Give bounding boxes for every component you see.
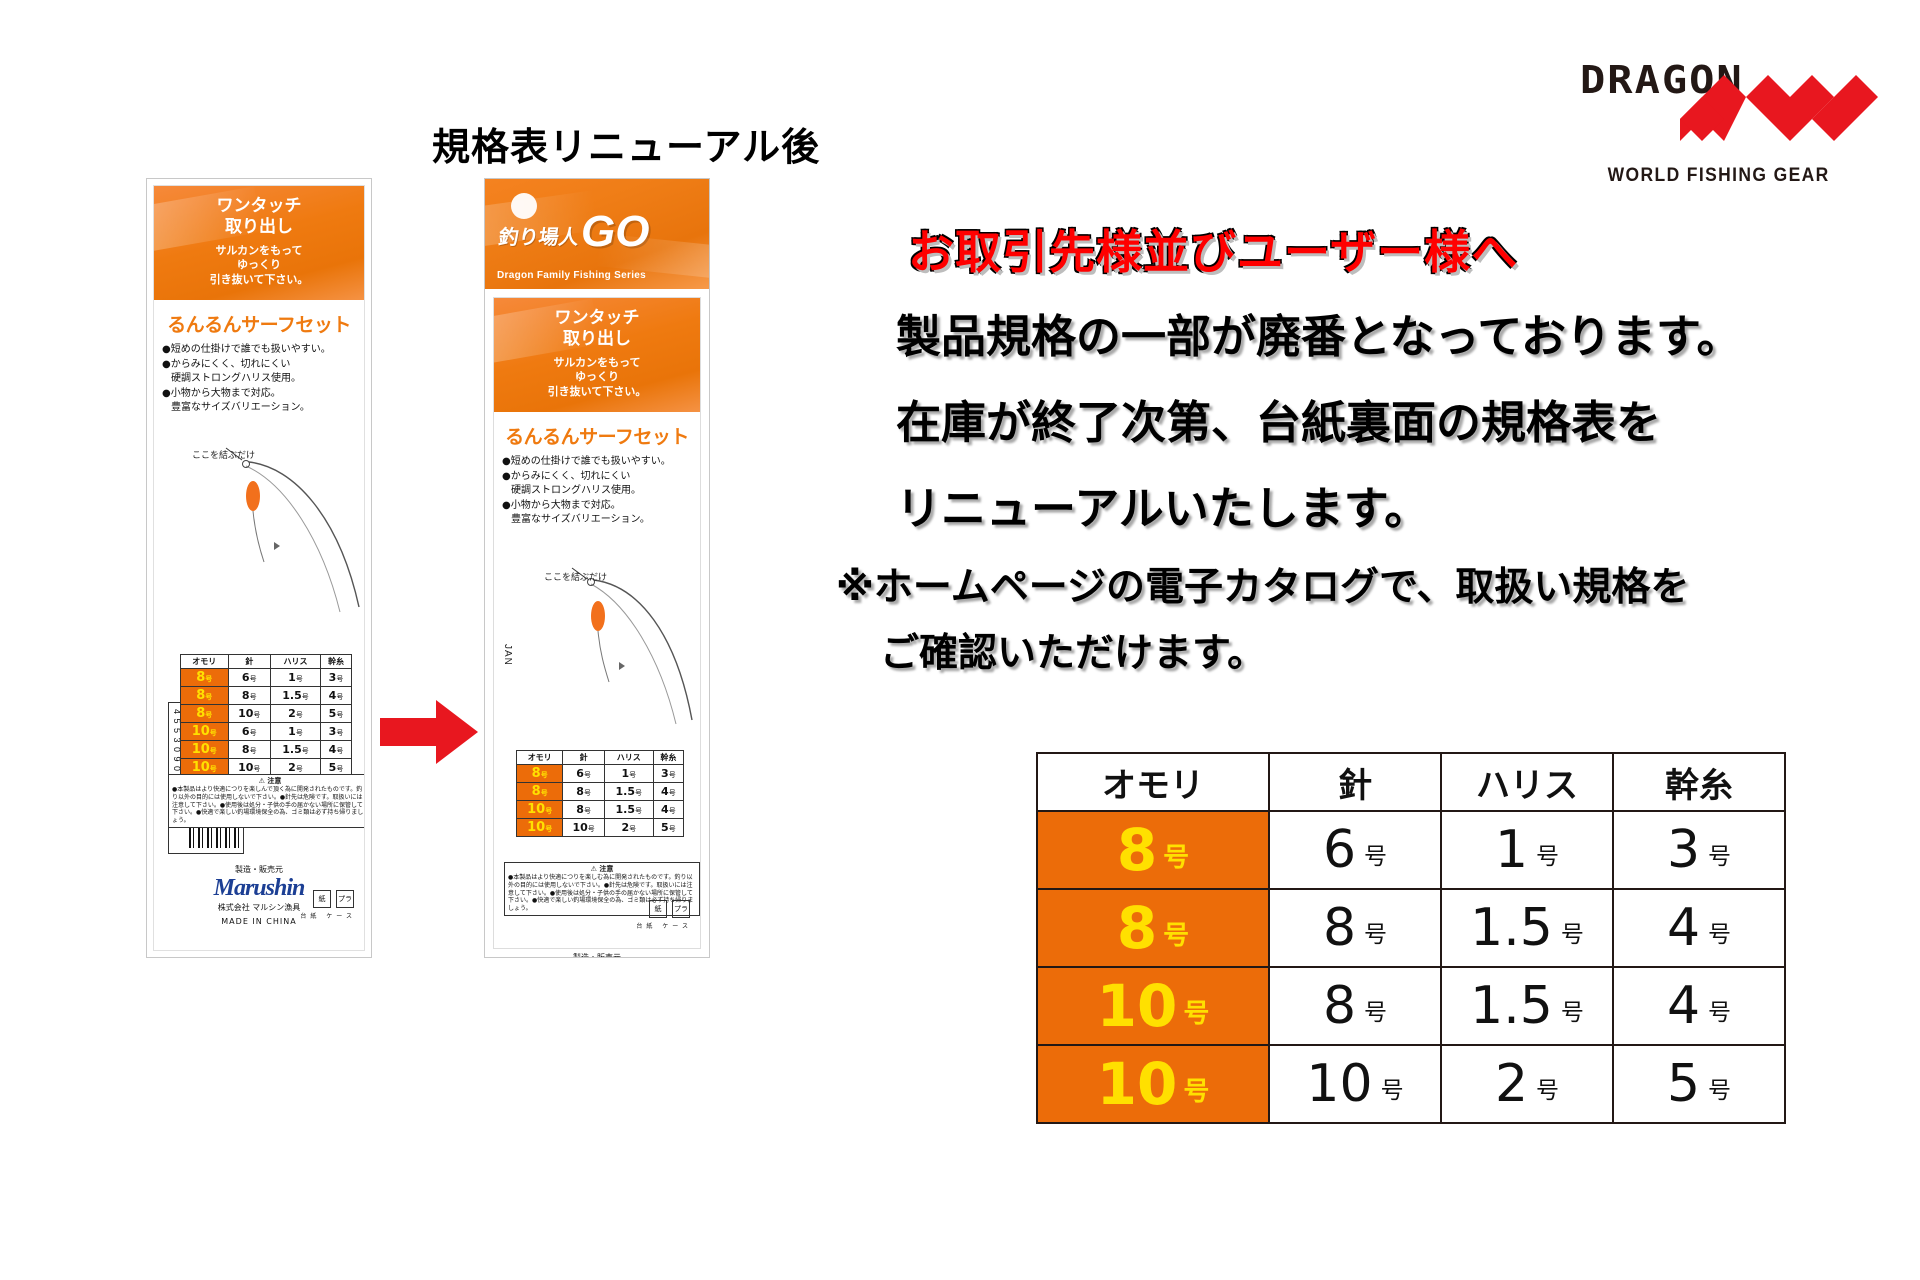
th-harisu-new: ハリス — [604, 751, 653, 765]
maker-block-new: 製造・販売元 Marushin 株式会社 マルシン漁具 MADE IN CHIN… — [494, 952, 700, 957]
spec-unit: 号 — [1364, 922, 1387, 948]
warning-title-old: ⚠ 注意 — [172, 777, 365, 786]
cell-value: 1.5号 — [604, 783, 653, 801]
spec-cell-omori: 10号 — [1037, 1045, 1269, 1123]
cell-omori: 10号 — [517, 819, 563, 837]
spec-cell-hari: 10号 — [1269, 1045, 1441, 1123]
spec-unit: 号 — [1183, 999, 1209, 1029]
package-new-body: ワンタッチ 取り出し サルカンをもって ゆっくり 引き抜いて下さい。 るんるんサ… — [493, 297, 701, 949]
cell-value: 8号 — [563, 801, 604, 819]
spec-value: 1.5 — [1470, 976, 1553, 1036]
cell-omori: 8号 — [517, 783, 563, 801]
spec-cell-mikiito: 3号 — [1613, 811, 1785, 889]
bullet-2: 硬調ストロングハリス使用。 — [162, 372, 356, 387]
feature-bullets-new: ●短めの仕掛けで誰でも扱いやすい。 ●からみにくく、切れにくい 硬調ストロングハ… — [494, 455, 700, 528]
spec-value: 8 — [1117, 894, 1157, 962]
cell-value: 1.5号 — [604, 801, 653, 819]
one-touch-sub2-new: ゆっくり — [575, 370, 619, 383]
spec-cell-harisu: 1.5号 — [1441, 889, 1613, 967]
spec-cell-omori: 10号 — [1037, 967, 1269, 1045]
cell-value: 8号 — [228, 741, 270, 759]
brand-jp-new: 釣り場人 — [497, 221, 581, 250]
cell-value: 2号 — [270, 705, 320, 723]
package-image-new: 釣り場人 GO Dragon Family Fishing Series ワンタ… — [484, 178, 710, 958]
maker-lead-old: 製造・販売元 — [154, 864, 364, 875]
brand-hero-new: 釣り場人 GO Dragon Family Fishing Series — [485, 179, 709, 289]
cell-value: 10号 — [228, 705, 270, 723]
one-touch-sub3-new: 引き抜いて下さい。 — [548, 385, 647, 398]
spec-th-omori: オモリ — [1037, 753, 1269, 811]
th-mikiito-new: 幹糸 — [653, 751, 683, 765]
th-harisu: ハリス — [270, 655, 320, 669]
dragon-tagline: WORLD FISHING GEAR — [1608, 165, 1830, 187]
spec-unit: 号 — [1381, 1078, 1404, 1104]
one-touch-banner-old: ワンタッチ 取り出し サルカンをもって ゆっくり 引き抜いて下さい。 — [154, 186, 364, 300]
page-title: 規格表リニューアル後 — [432, 116, 820, 171]
brand-sub-new: Dragon Family Fishing Series — [497, 270, 646, 281]
table-row: 8号8号1.5号4号 — [517, 783, 684, 801]
notice-line-5: ご確認いただけます。 — [880, 622, 1266, 678]
one-touch-sub2: ゆっくり — [237, 258, 281, 271]
cell-value: 1.5号 — [270, 741, 320, 759]
spec-cell-mikiito: 4号 — [1613, 889, 1785, 967]
bubble-icon — [511, 193, 537, 219]
cell-value: 4号 — [321, 741, 352, 759]
cell-value: 3号 — [321, 723, 352, 741]
cell-value: 6号 — [228, 723, 270, 741]
cell-value: 5号 — [321, 705, 352, 723]
spec-cell-harisu: 2号 — [1441, 1045, 1613, 1123]
spec-value: 6 — [1323, 820, 1356, 880]
table-row: 8号6号1号3号 — [517, 765, 684, 783]
cell-value: 4号 — [653, 801, 683, 819]
spec-table-new: オモリ 針 ハリス 幹糸 8号6号1号3号8号8号1.5号4号10号8号1.5号… — [516, 750, 684, 837]
spec-value: 4 — [1667, 898, 1700, 958]
cell-omori: 10号 — [181, 723, 229, 741]
right-arrow-icon — [380, 700, 478, 764]
th-omori: オモリ — [181, 655, 229, 669]
table-row: 10号8号1.5号4号 — [517, 801, 684, 819]
th-hari: 針 — [228, 655, 270, 669]
spec-th-hari: 針 — [1269, 753, 1441, 811]
notice-line-3: リニューアルいたします。 — [896, 472, 1429, 537]
cell-value: 1.5号 — [270, 687, 320, 705]
spec-unit: 号 — [1163, 843, 1189, 873]
notice-headline: お取引先様並びユーザー様へ — [908, 216, 1518, 282]
one-touch-title2: 取り出し — [225, 217, 293, 237]
spec-unit: 号 — [1708, 1078, 1731, 1104]
bullet-1: ●からみにくく、切れにくい — [162, 358, 356, 373]
cell-value: 1号 — [270, 723, 320, 741]
spec-cell-omori: 8号 — [1037, 889, 1269, 967]
th-mikiito: 幹糸 — [321, 655, 352, 669]
one-touch-title2-new: 取り出し — [563, 329, 631, 349]
bullet-1-new: ●からみにくく、切れにくい — [502, 470, 692, 485]
spec-table-main: オモリ 針 ハリス 幹糸 8号6号1号3号8号8号1.5号4号10号8号1.5号… — [1036, 752, 1786, 1124]
recycle-marks-new: 紙 プラ — [649, 900, 690, 918]
spec-unit: 号 — [1364, 1000, 1387, 1026]
one-touch-sub1: サルカンをもって — [215, 244, 302, 257]
table-header-row-new: オモリ 針 ハリス 幹糸 — [517, 751, 684, 765]
one-touch-sub1-new: サルカンをもって — [553, 356, 640, 369]
th-hari-new: 針 — [563, 751, 604, 765]
spec-value: 3 — [1667, 820, 1700, 880]
spec-value: 1.5 — [1470, 898, 1553, 958]
product-name-old: るんるんサーフセット — [154, 310, 364, 337]
spec-value: 10 — [1097, 1050, 1178, 1118]
spec-value: 5 — [1667, 1054, 1700, 1114]
spec-table-header-row: オモリ 針 ハリス 幹糸 — [1037, 753, 1785, 811]
spec-cell-hari: 8号 — [1269, 967, 1441, 1045]
cell-value: 2号 — [604, 819, 653, 837]
rod-note-old: ここを結ぶだけ — [192, 448, 255, 461]
bullet-2-new: 硬調ストロングハリス使用。 — [502, 484, 692, 499]
table-header-row: オモリ 針 ハリス 幹糸 — [181, 655, 352, 669]
cell-omori: 8号 — [181, 705, 229, 723]
cell-value: 10号 — [563, 819, 604, 837]
recycle-paper-icon-new: 紙 — [649, 900, 667, 918]
table-row: 8号6号1号3号 — [181, 669, 352, 687]
rod-illustration-old: ここを結ぶだけ 4 5 5 3 0 9 0 1 2 4 5 2 8 — [154, 422, 364, 622]
spec-cell-harisu: 1.5号 — [1441, 967, 1613, 1045]
cell-value: 6号 — [563, 765, 604, 783]
recycle-labels-new: 台紙 ケース — [636, 921, 692, 930]
spec-value: 8 — [1323, 898, 1356, 958]
spec-unit: 号 — [1708, 1000, 1731, 1026]
spec-unit: 号 — [1561, 1000, 1584, 1026]
spec-th-mikiito: 幹糸 — [1613, 753, 1785, 811]
spec-value: 8 — [1323, 976, 1356, 1036]
spec-value: 2 — [1495, 1054, 1528, 1114]
cell-value: 5号 — [653, 819, 683, 837]
cell-value: 3号 — [321, 669, 352, 687]
dragon-zigzag-mark — [1680, 63, 1880, 173]
one-touch-sub3: 引き抜いて下さい。 — [210, 273, 309, 286]
spec-cell-harisu: 1号 — [1441, 811, 1613, 889]
spec-value: 10 — [1306, 1054, 1372, 1114]
spec-table-row: 10号10号2号5号 — [1037, 1045, 1785, 1123]
recycle-marks-old: 紙 プラ — [313, 890, 354, 908]
rod-svg-new — [494, 534, 704, 734]
spec-table-row: 8号6号1号3号 — [1037, 811, 1785, 889]
jan-label-new: JAN — [502, 644, 513, 666]
spec-unit: 号 — [1561, 922, 1584, 948]
spec-unit: 号 — [1364, 844, 1387, 870]
cell-value: 4号 — [653, 783, 683, 801]
spec-table-old: オモリ 針 ハリス 幹糸 8号6号1号3号8号8号1.5号4号8号10号2号5号… — [180, 654, 352, 777]
spec-th-harisu: ハリス — [1441, 753, 1613, 811]
notice-line-1: 製品規格の一部が廃番となっております。 — [896, 300, 1742, 365]
bullet-4-new: 豊富なサイズバリエーション。 — [502, 513, 692, 528]
spec-table-row: 8号8号1.5号4号 — [1037, 889, 1785, 967]
recycle-plastic-icon: プラ — [336, 890, 354, 908]
recycle-labels-old: 台紙 ケース — [300, 911, 356, 920]
bullet-3: ●小物から大物まで対応。 — [162, 387, 356, 402]
rod-svg-old — [154, 422, 365, 622]
bullet-0-new: ●短めの仕掛けで誰でも扱いやすい。 — [502, 455, 692, 470]
spec-value: 4 — [1667, 976, 1700, 1036]
cell-value: 3号 — [653, 765, 683, 783]
maker-lead-new: 製造・販売元 — [494, 952, 700, 957]
cell-value: 4号 — [321, 687, 352, 705]
spec-cell-mikiito: 5号 — [1613, 1045, 1785, 1123]
rod-illustration-new: ここを結ぶだけ JAN — [494, 534, 700, 734]
cell-omori: 8号 — [181, 687, 229, 705]
table-row: 10号10号2号5号 — [517, 819, 684, 837]
spec-unit: 号 — [1163, 921, 1189, 951]
rod-note-new: ここを結ぶだけ — [544, 570, 607, 583]
cell-value: 1号 — [270, 669, 320, 687]
one-touch-title1: ワンタッチ — [217, 196, 302, 216]
table-row: 10号8号1.5号4号 — [181, 741, 352, 759]
cell-value: 8号 — [563, 783, 604, 801]
spec-table-row: 10号8号1.5号4号 — [1037, 967, 1785, 1045]
spec-cell-mikiito: 4号 — [1613, 967, 1785, 1045]
cell-omori: 8号 — [181, 669, 229, 687]
arrow-shaft — [380, 718, 442, 746]
spec-value: 8 — [1117, 816, 1157, 884]
th-omori-new: オモリ — [517, 751, 563, 765]
recycle-paper-icon: 紙 — [313, 890, 331, 908]
one-touch-banner-new: ワンタッチ 取り出し サルカンをもって ゆっくり 引き抜いて下さい。 — [494, 298, 700, 412]
bullet-3-new: ●小物から大物まで対応。 — [502, 499, 692, 514]
warning-title-new: ⚠ 注意 — [508, 865, 696, 874]
package-image-old: ワンタッチ 取り出し サルカンをもって ゆっくり 引き抜いて下さい。 るんるんサ… — [146, 178, 372, 958]
cell-omori: 10号 — [517, 801, 563, 819]
bullet-4: 豊富なサイズバリエーション。 — [162, 401, 356, 416]
spec-unit: 号 — [1183, 1077, 1209, 1107]
one-touch-title1-new: ワンタッチ — [555, 308, 640, 328]
cell-value: 6号 — [228, 669, 270, 687]
cell-value: 8号 — [228, 687, 270, 705]
arrow-head — [436, 700, 478, 764]
notice-line-4: ※ホームページの電子カタログで、取扱い規格を — [836, 556, 1689, 612]
notice-block: お取引先様並びユーザー様へ 製品規格の一部が廃番となっております。 在庫が終了次… — [908, 216, 1518, 282]
spec-cell-hari: 6号 — [1269, 811, 1441, 889]
spec-unit: 号 — [1708, 922, 1731, 948]
brand-go-new: GO — [581, 207, 649, 257]
bullet-0: ●短めの仕掛けで誰でも扱いやすい。 — [162, 343, 356, 358]
spec-cell-hari: 8号 — [1269, 889, 1441, 967]
feature-bullets-old: ●短めの仕掛けで誰でも扱いやすい。 ●からみにくく、切れにくい 硬調ストロングハ… — [154, 343, 364, 416]
table-row: 10号6号1号3号 — [181, 723, 352, 741]
spec-unit: 号 — [1536, 1078, 1559, 1104]
notice-line-2: 在庫が終了次第、台紙裏面の規格表を — [896, 386, 1661, 451]
warning-text-old: ●本製品はより快適につりを楽しんで頂く為に開発されたものです。釣り以外の目的には… — [172, 786, 365, 825]
cell-omori: 10号 — [181, 741, 229, 759]
spec-unit: 号 — [1536, 844, 1559, 870]
recycle-plastic-icon-new: プラ — [672, 900, 690, 918]
spec-value: 10 — [1097, 972, 1178, 1040]
warning-box-old: ⚠ 注意 ●本製品はより快適につりを楽しんで頂く為に開発されたものです。釣り以外… — [168, 774, 365, 828]
spec-cell-omori: 8号 — [1037, 811, 1269, 889]
table-row: 8号8号1.5号4号 — [181, 687, 352, 705]
dragon-logo: DRAGON WORLD FISHING GEAR — [1580, 45, 1880, 195]
spec-value: 1 — [1495, 820, 1528, 880]
spec-unit: 号 — [1708, 844, 1731, 870]
product-name-new: るんるんサーフセット — [494, 422, 700, 449]
cell-omori: 8号 — [517, 765, 563, 783]
cell-value: 1号 — [604, 765, 653, 783]
table-row: 8号10号2号5号 — [181, 705, 352, 723]
